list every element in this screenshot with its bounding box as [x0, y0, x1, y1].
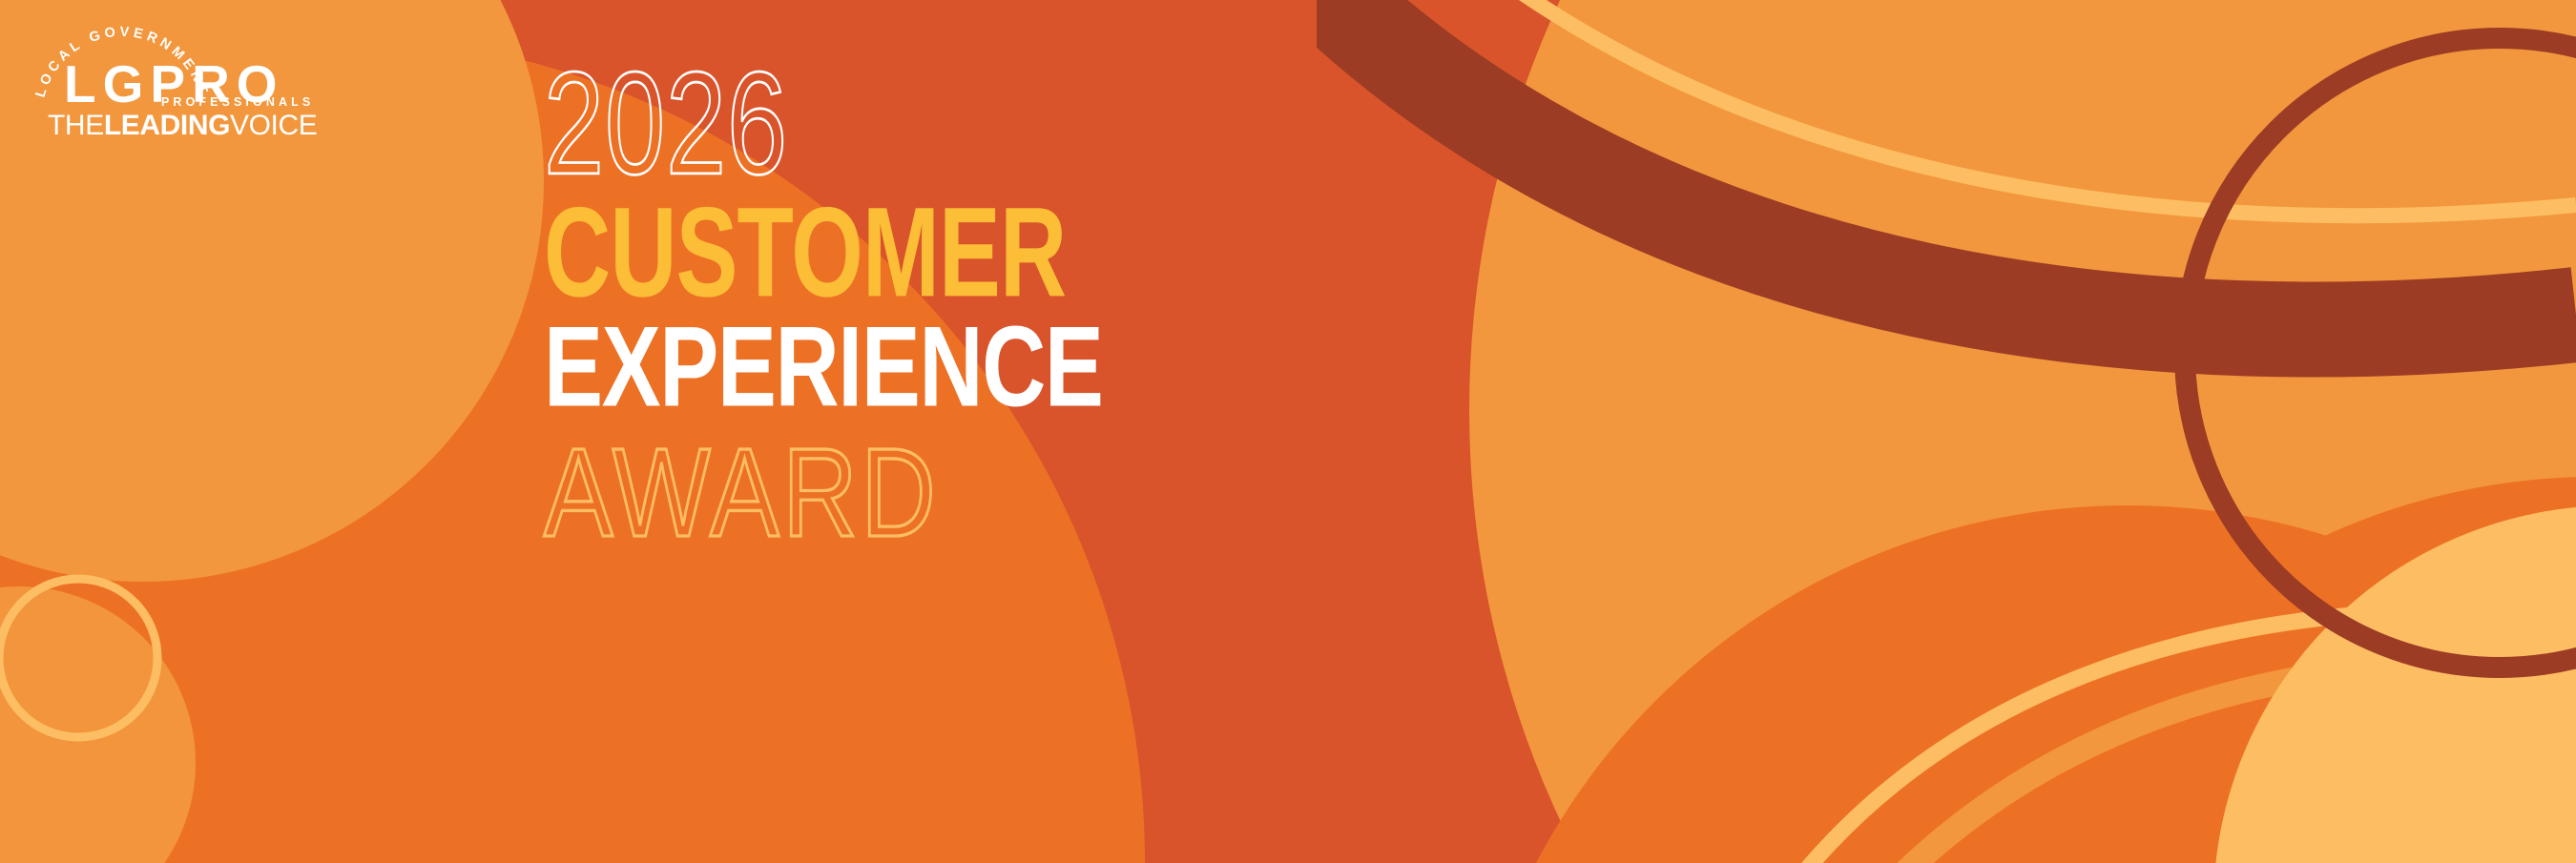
headline-award: AWARD — [544, 429, 1509, 557]
logo-wordmark-lg: LG — [64, 54, 150, 113]
headline-experience: EXPERIENCE — [544, 311, 1520, 423]
logo-tagline: THELEADINGVOICE — [48, 111, 317, 141]
award-headline: 2026 CUSTOMER EXPERIENCE AWARD — [544, 50, 1593, 544]
headline-year: 2026 — [544, 50, 1446, 197]
logo-tagline-the: THE — [48, 110, 104, 141]
logo-professionals-text: PROFESSIONALS — [161, 95, 314, 109]
logo-tagline-leading: LEADING — [104, 110, 230, 141]
lgpro-logo[interactable]: LOCAL GOVERNMENT LGPRO PROFESSIONALS THE… — [19, 17, 315, 146]
headline-customer: CUSTOMER — [544, 191, 1488, 314]
award-banner: LOCAL GOVERNMENT LGPRO PROFESSIONALS THE… — [0, 0, 2576, 863]
logo-tagline-voice: VOICE — [230, 110, 317, 141]
